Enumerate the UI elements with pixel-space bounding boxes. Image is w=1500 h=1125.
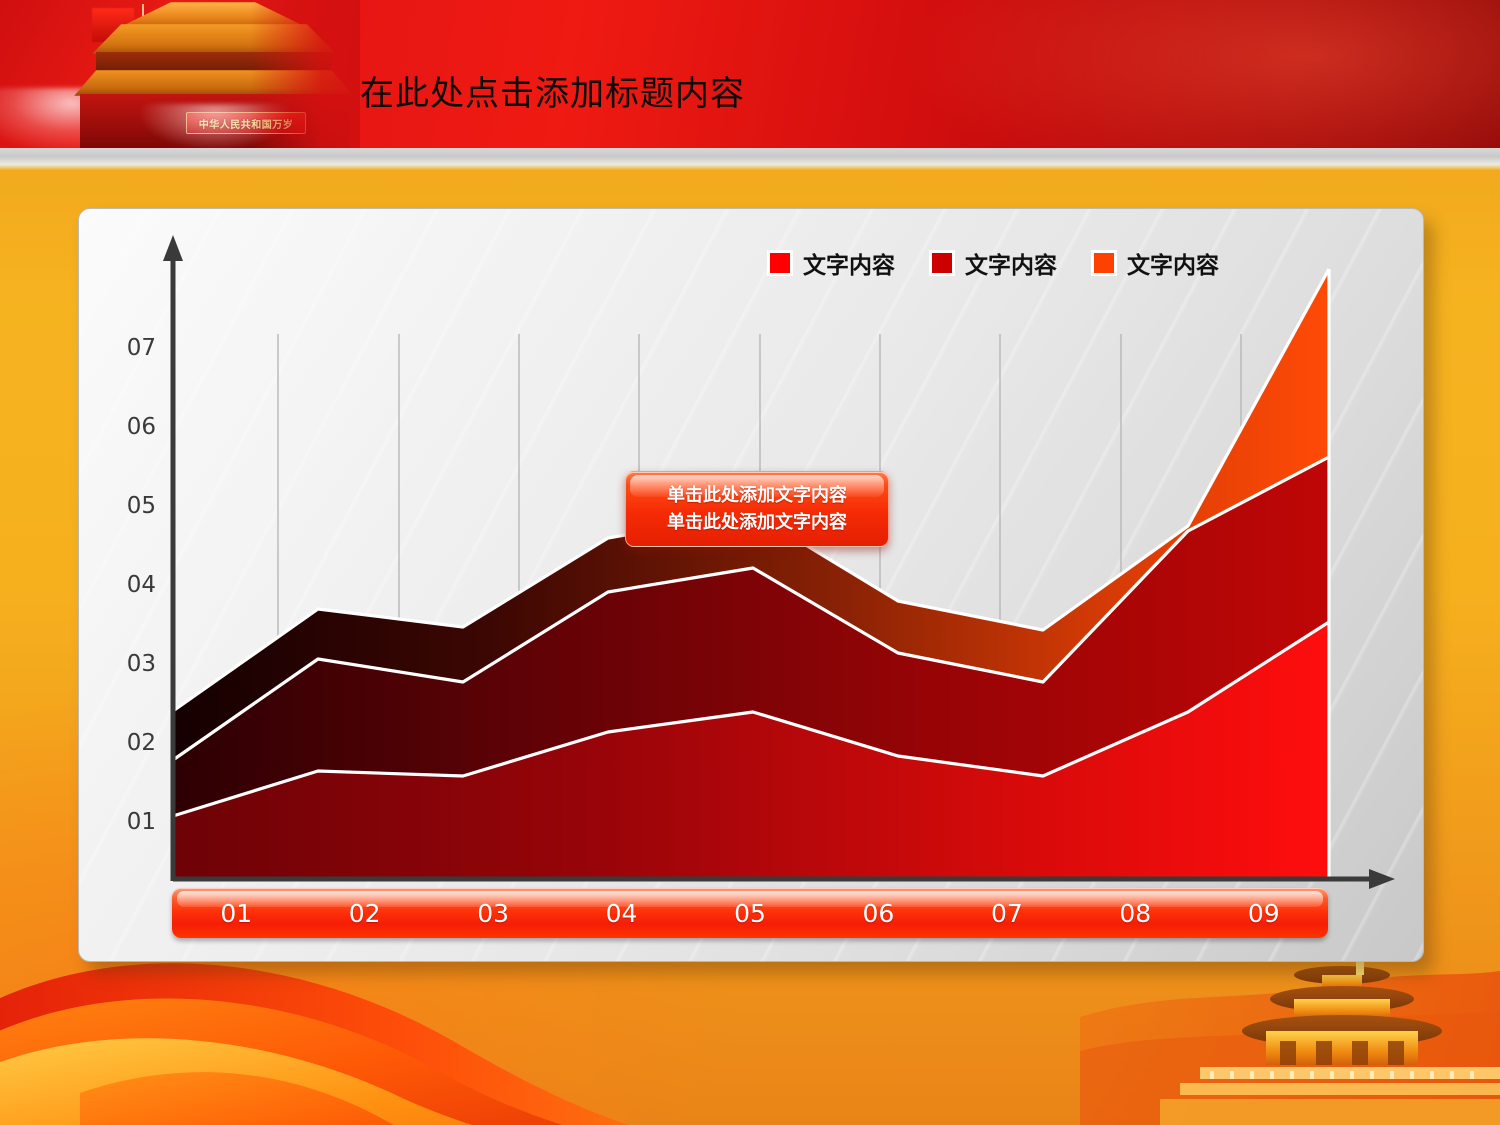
text-callout-box[interactable]: 单击此处添加文字内容 单击此处添加文字内容 bbox=[625, 471, 889, 547]
legend-item-3[interactable]: 文字内容 bbox=[1091, 246, 1219, 280]
slide-root: 中华人民共和国万岁 在此处点击添加标题内容 bbox=[0, 0, 1500, 1125]
x-axis-label-04: 04 bbox=[557, 899, 685, 928]
y-axis-label-02: 02 bbox=[100, 730, 156, 756]
legend-label-3: 文字内容 bbox=[1127, 246, 1219, 280]
legend-label-2: 文字内容 bbox=[965, 246, 1057, 280]
x-axis-label-06: 06 bbox=[814, 899, 942, 928]
header-divider bbox=[0, 148, 1500, 170]
x-axis-label-08: 08 bbox=[1071, 899, 1199, 928]
y-axis-label-06: 06 bbox=[100, 414, 156, 440]
x-axis-label-02: 02 bbox=[300, 899, 428, 928]
stacked-area-chart bbox=[79, 209, 1423, 961]
y-axis-label-01: 01 bbox=[100, 809, 156, 835]
legend-swatch-2 bbox=[929, 250, 955, 276]
header-banner: 中华人民共和国万岁 在此处点击添加标题内容 bbox=[0, 0, 1500, 148]
legend-swatch-1 bbox=[767, 250, 793, 276]
y-axis-label-04: 04 bbox=[100, 572, 156, 598]
legend-item-2[interactable]: 文字内容 bbox=[929, 246, 1057, 280]
slide-title: 在此处点击添加标题内容 bbox=[360, 66, 745, 115]
x-axis-label-09: 09 bbox=[1200, 899, 1328, 928]
x-axis-label-05: 05 bbox=[686, 899, 814, 928]
x-axis-label-01: 01 bbox=[172, 899, 300, 928]
x-axis-label-bar: 01 02 03 04 05 06 07 08 09 bbox=[172, 888, 1328, 938]
callout-line-1: 单击此处添加文字内容 bbox=[667, 482, 847, 509]
chart-panel: 文字内容 文字内容 文字内容 bbox=[78, 208, 1424, 962]
y-axis-label-07: 07 bbox=[100, 335, 156, 361]
callout-line-2: 单击此处添加文字内容 bbox=[667, 509, 847, 536]
x-axis-label-03: 03 bbox=[429, 899, 557, 928]
y-axis-label-03: 03 bbox=[100, 651, 156, 677]
legend-item-1[interactable]: 文字内容 bbox=[767, 246, 895, 280]
tiananmen-gate-icon: 中华人民共和国万岁 bbox=[0, 0, 360, 148]
legend-swatch-3 bbox=[1091, 250, 1117, 276]
legend-label-1: 文字内容 bbox=[803, 246, 895, 280]
header-glow bbox=[900, 0, 1500, 148]
y-axis-label-05: 05 bbox=[100, 493, 156, 519]
x-axis-label-07: 07 bbox=[943, 899, 1071, 928]
chart-legend: 文字内容 文字内容 文字内容 bbox=[767, 246, 1219, 280]
